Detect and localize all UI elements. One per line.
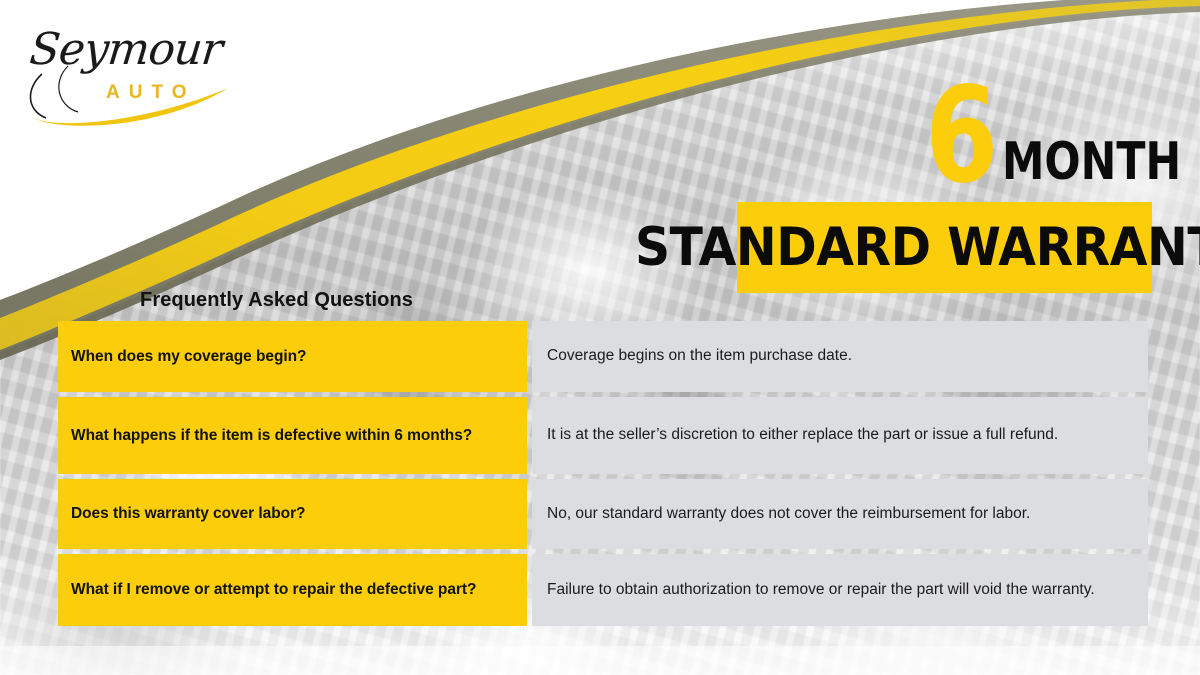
faq-question-text: When does my coverage begin? <box>71 347 306 367</box>
warranty-duration: 6 MONTH <box>925 68 1200 188</box>
logo-subtext: AUTO <box>106 82 195 104</box>
faq-answer-text: It is at the seller’s discretion to eith… <box>547 425 1134 446</box>
table-row: When does my coverage begin? Coverage be… <box>58 321 1148 392</box>
faq-question-cell: When does my coverage begin? <box>58 321 527 392</box>
logo-wordmark: Seymour <box>27 24 224 75</box>
faq-answer-text: No, our standard warranty does not cover… <box>547 504 1134 525</box>
brand-logo: Seymour AUTO <box>22 22 237 127</box>
table-row: What happens if the item is defective wi… <box>58 397 1148 474</box>
faq-answer-text: Failure to obtain authorization to remov… <box>547 580 1134 601</box>
faq-heading: Frequently Asked Questions <box>140 289 413 312</box>
faq-question-text: What if I remove or attempt to repair th… <box>71 580 476 600</box>
standard-warranty-banner: STANDARD WARRANTY <box>737 202 1152 293</box>
duration-number: 6 <box>925 85 996 188</box>
faq-question-cell: Does this warranty cover labor? <box>58 479 527 549</box>
faq-question-text: What happens if the item is defective wi… <box>71 426 472 446</box>
faq-answer-cell: Failure to obtain authorization to remov… <box>532 554 1148 626</box>
faq-answer-cell: Coverage begins on the item purchase dat… <box>532 321 1148 392</box>
faq-question-text: Does this warranty cover labor? <box>71 504 305 524</box>
table-row: What if I remove or attempt to repair th… <box>58 554 1148 626</box>
duration-unit: MONTH <box>1002 140 1181 184</box>
faq-question-cell: What if I remove or attempt to repair th… <box>58 554 527 626</box>
warranty-slide: Seymour AUTO 6 MONTH STANDARD WARRANTY F… <box>0 0 1200 675</box>
faq-answer-cell: No, our standard warranty does not cover… <box>532 479 1148 549</box>
table-row: Does this warranty cover labor? No, our … <box>58 479 1148 549</box>
faq-answer-cell: It is at the seller’s discretion to eith… <box>532 397 1148 474</box>
banner-title: STANDARD WARRANTY <box>634 217 1200 278</box>
faq-question-cell: What happens if the item is defective wi… <box>58 397 527 474</box>
faq-table: When does my coverage begin? Coverage be… <box>58 321 1148 626</box>
faq-answer-text: Coverage begins on the item purchase dat… <box>547 346 1134 367</box>
